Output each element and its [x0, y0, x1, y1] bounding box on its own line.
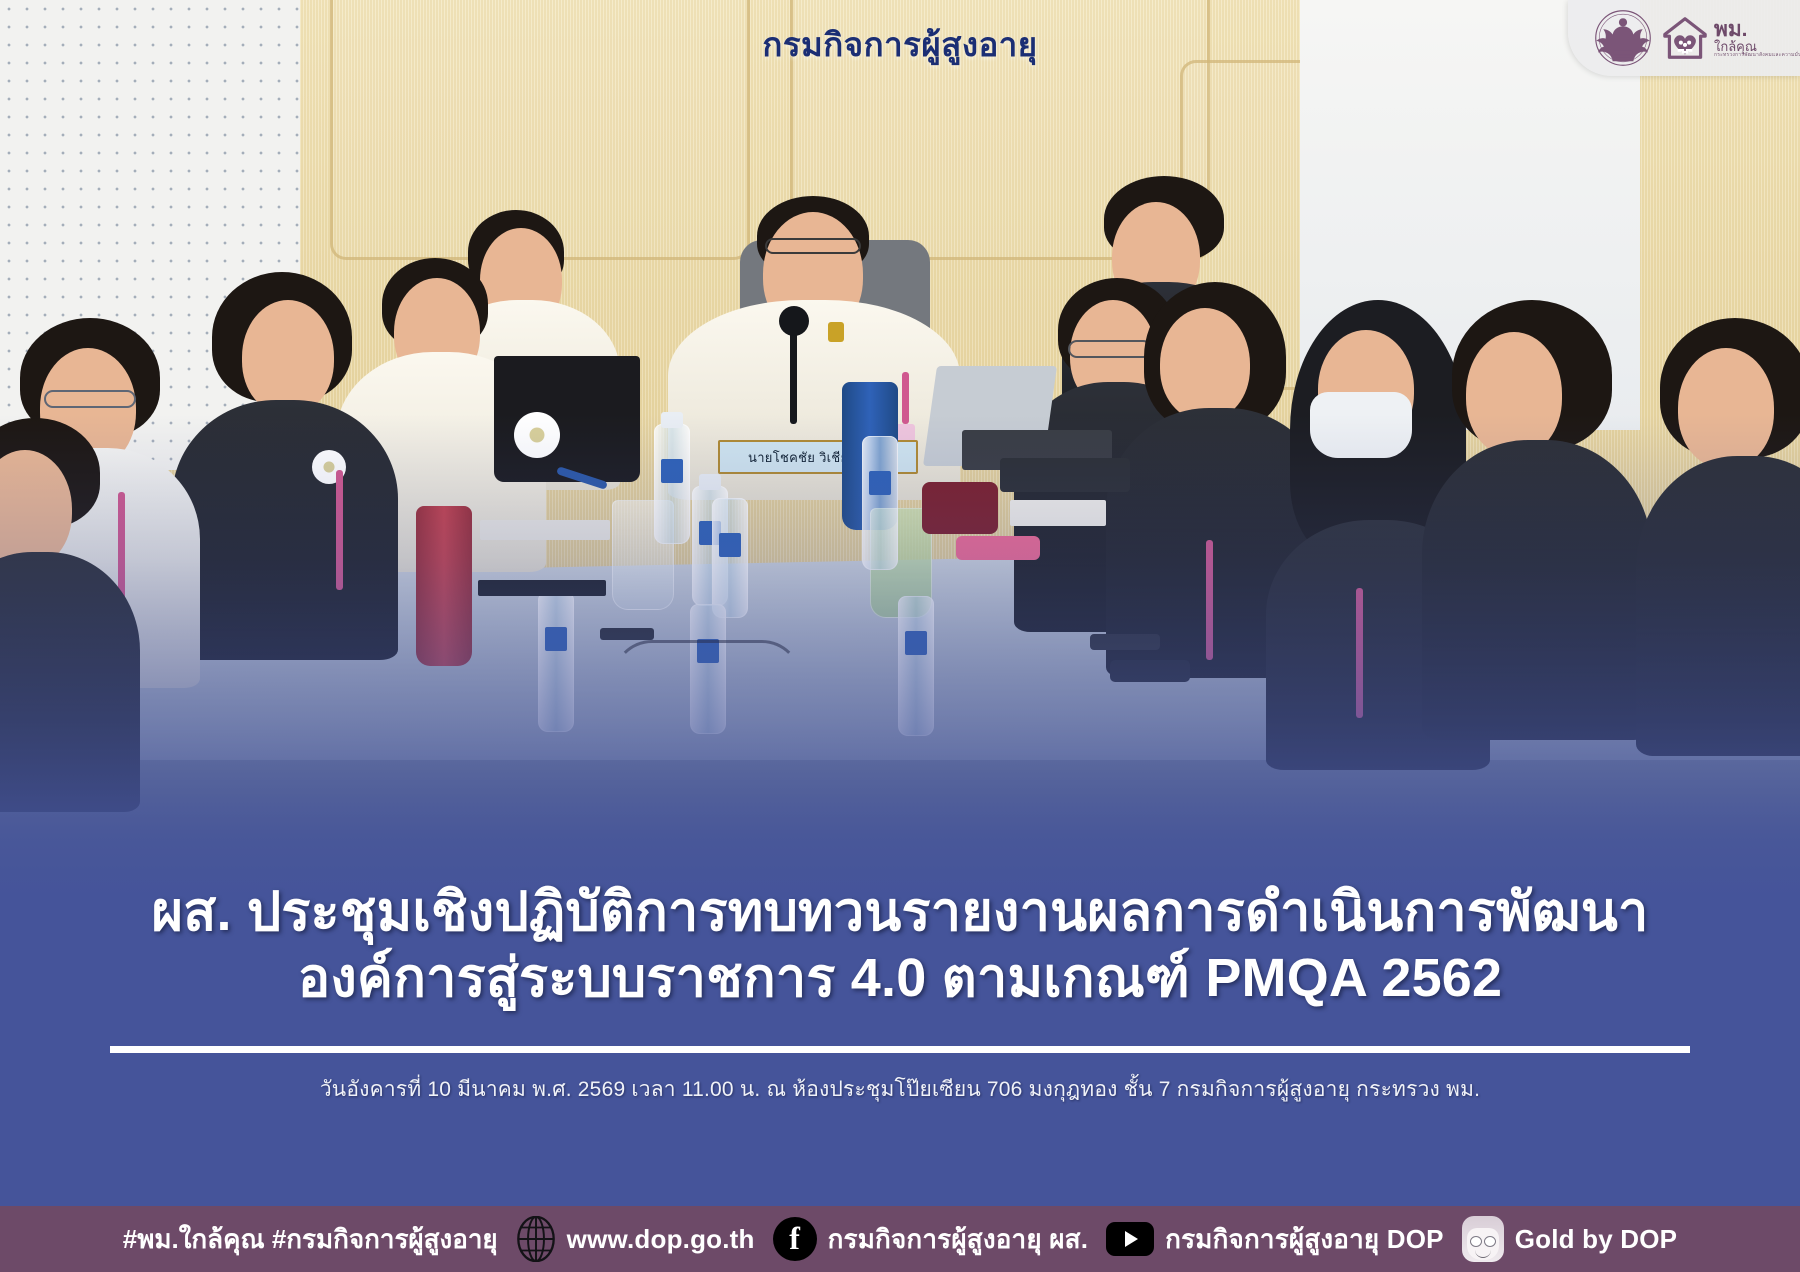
- water-bottle: [654, 424, 690, 544]
- uniform-insignia: [828, 322, 844, 342]
- cable: [612, 640, 802, 720]
- department-wordmark: กรมกิจการผู้สูงอายุ: [0, 18, 1800, 71]
- remote: [600, 628, 654, 640]
- pmo-text: พม. ใกล้คุณ กระทรวงการพัฒนาสังคมและความม…: [1714, 19, 1800, 58]
- face: [1466, 332, 1562, 456]
- mic-receiver: [1000, 458, 1130, 492]
- lanyard: [902, 372, 909, 424]
- face: [1160, 308, 1250, 420]
- bottle-cap: [661, 412, 683, 428]
- footer-item-website[interactable]: www.dop.go.th: [516, 1216, 755, 1262]
- face-mask: [1310, 392, 1412, 458]
- house-heart-icon: [1662, 16, 1708, 60]
- footer-item-gold-app[interactable]: Gold by DOP: [1462, 1216, 1678, 1262]
- footer-bar: #พม.ใกล้คุณ #กรมกิจการผู้สูงอายุ www.dop…: [0, 1206, 1800, 1272]
- pencil-case: [922, 482, 998, 534]
- title-line-2: องค์การสู่ระบบราชการ 4.0 ตามเกณฑ์ PMQA 2…: [40, 946, 1760, 1012]
- red-tumbler: [416, 506, 472, 666]
- lanyard: [336, 470, 343, 590]
- facebook-label: กรมกิจการผู้สูงอายุ ผส.: [828, 1219, 1089, 1260]
- website-label: www.dop.go.th: [567, 1224, 755, 1255]
- gold-app-label: Gold by DOP: [1515, 1224, 1678, 1255]
- water-bottle: [538, 592, 574, 732]
- paper-document: [1010, 500, 1106, 526]
- youtube-icon: [1106, 1222, 1154, 1256]
- tablet: [1110, 660, 1190, 682]
- sticky-notes: [956, 536, 1040, 560]
- water-bottle: [898, 596, 934, 736]
- microphone-head: [779, 306, 809, 336]
- lanyard: [1356, 588, 1363, 718]
- youtube-label: กรมกิจการผู้สูงอายุ DOP: [1165, 1219, 1444, 1260]
- footer-item-youtube[interactable]: กรมกิจการผู้สูงอายุ DOP: [1106, 1219, 1444, 1260]
- phone: [1090, 634, 1160, 650]
- paper-document: [480, 520, 610, 540]
- eyeglasses: [1068, 340, 1152, 358]
- face: [1678, 348, 1774, 468]
- table-front: [0, 760, 1800, 900]
- notebook: [478, 580, 606, 596]
- globe-icon: [516, 1216, 556, 1262]
- ministry-abbrev: พม.: [1714, 19, 1800, 40]
- water-bottle: [712, 498, 748, 618]
- torso: [1422, 440, 1652, 740]
- event-details: วันอังคารที่ 10 มีนาคม พ.ศ. 2569 เวลา 11…: [40, 1073, 1760, 1106]
- meeting-photo: นายโชคชัย วิเชียรชัยยะ: [0, 0, 1800, 900]
- pmo-logo: พม. ใกล้คุณ กระทรวงการพัฒนาสังคมและความม…: [1662, 16, 1800, 60]
- ministry-tagline: ใกล้คุณ: [1714, 40, 1800, 53]
- torso: [172, 400, 398, 660]
- title-divider: [110, 1046, 1690, 1053]
- bottle-cap: [699, 474, 721, 490]
- title-block: ผส. ประชุมเชิงปฏิบัติการทบทวนรายงานผลการ…: [0, 880, 1800, 1106]
- footer-item-facebook[interactable]: f กรมกิจการผู้สูงอายุ ผส.: [773, 1217, 1089, 1261]
- garuda-emblem-icon: [1594, 9, 1652, 67]
- poster-root: นายโชคชัย วิเชียรชัยยะ: [0, 0, 1800, 1272]
- water-bottle: [862, 436, 898, 570]
- gold-app-icon: [1462, 1216, 1504, 1262]
- lanyard: [1206, 540, 1213, 660]
- facebook-icon: f: [773, 1217, 817, 1261]
- footer-hashtags: #พม.ใกล้คุณ #กรมกิจการผู้สูงอายุ: [123, 1219, 498, 1260]
- torso: [0, 552, 140, 812]
- handbag: [494, 356, 640, 482]
- eyeglasses: [44, 390, 136, 408]
- title-line-1: ผส. ประชุมเชิงปฏิบัติการทบทวนรายงานผลการ…: [40, 880, 1760, 946]
- face: [242, 300, 334, 414]
- logo-badge: พม. ใกล้คุณ กระทรวงการพัฒนาสังคมและความม…: [1568, 0, 1800, 76]
- torso: [1636, 456, 1800, 756]
- ministry-fullname: กระทรวงการพัฒนาสังคมและความมั่นคงของมนุษ…: [1714, 53, 1800, 58]
- bag-flower-charm: [514, 412, 560, 458]
- eyeglasses: [765, 238, 861, 254]
